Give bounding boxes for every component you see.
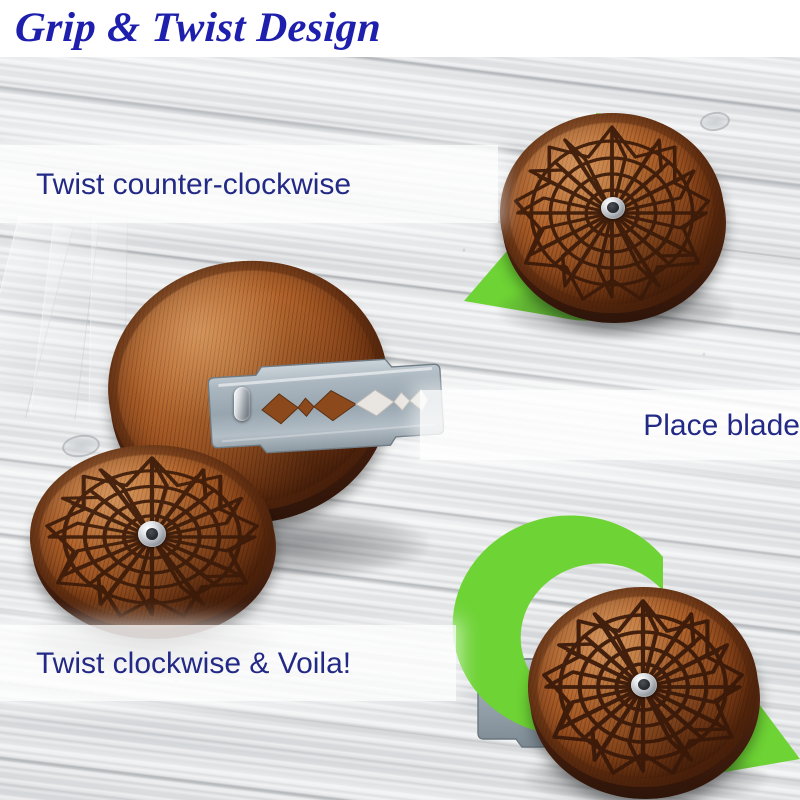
photo-stage: Twist counter-clockwise <box>0 57 800 800</box>
closed-holder-lid-bottom <box>528 587 758 787</box>
caption-step-2: Place blade <box>420 390 800 460</box>
caption-step-3-text: Twist clockwise & Voila! <box>36 647 351 680</box>
product-infographic: Grip & Twist Design <box>0 0 800 800</box>
page-title: Grip & Twist Design <box>14 4 383 52</box>
center-rivet-core <box>607 202 619 213</box>
center-rivet-core <box>146 528 158 540</box>
caption-step-1-text: Twist counter-clockwise <box>36 168 351 201</box>
center-rivet <box>138 521 166 547</box>
header-band: Grip & Twist Design <box>0 0 800 57</box>
center-rivet <box>631 673 657 697</box>
opened-holder-lid <box>30 445 274 629</box>
caption-step-3: Twist clockwise & Voila! <box>0 625 456 701</box>
closed-holder-lid-top <box>500 113 724 313</box>
caption-step-2-text: Place blade <box>643 409 800 442</box>
caption-step-1: Twist counter-clockwise <box>0 145 498 223</box>
center-rivet-core <box>638 679 650 690</box>
base-center-post <box>234 387 250 421</box>
center-rivet <box>601 197 625 219</box>
